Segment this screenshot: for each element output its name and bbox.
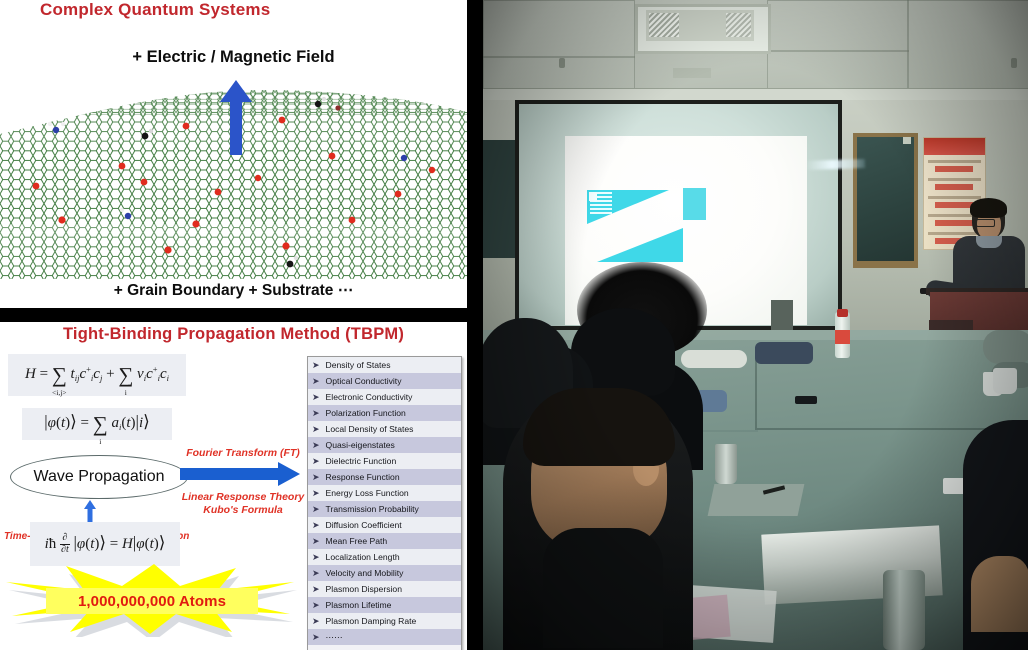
list-item-label: Diffusion Coefficient xyxy=(326,520,402,530)
list-item[interactable]: ➤Electronic Conductivity xyxy=(308,389,461,405)
list-item[interactable]: ➤Transmission Probability xyxy=(308,501,461,517)
arrow-bullet-icon: ➤ xyxy=(312,409,320,418)
paper-cup xyxy=(993,368,1017,394)
arrow-bullet-icon: ➤ xyxy=(312,569,320,578)
audience-hair xyxy=(523,388,675,466)
field-direction-arrow-icon xyxy=(219,80,253,155)
grain-boundary-substrate-label: + Grain Boundary + Substrate ⋯ xyxy=(0,281,467,300)
arrow-bullet-icon: ➤ xyxy=(312,521,320,530)
vent-slats-icon xyxy=(726,13,751,37)
arrow-bullet-icon: ➤ xyxy=(312,617,320,626)
ceiling-tile xyxy=(767,0,909,52)
slide-rectangle xyxy=(683,188,706,220)
poster-section-heading xyxy=(935,202,973,208)
list-item[interactable]: ➤Density of States xyxy=(308,357,461,373)
arrow-bullet-icon: ➤ xyxy=(312,457,320,466)
list-item-label: Transmission Probability xyxy=(326,504,419,514)
arrow-bullet-icon: ➤ xyxy=(312,361,320,370)
list-item[interactable]: ➤Diffusion Coefficient xyxy=(308,517,461,533)
annotation-fourier-transform: Fourier Transform (FT) xyxy=(178,447,308,460)
list-item[interactable]: ➤Response Function xyxy=(308,469,461,485)
list-item-label: Electronic Conductivity xyxy=(326,392,413,402)
list-item-label: Plasmon Lifetime xyxy=(326,600,392,610)
poster-section-heading xyxy=(935,166,973,172)
arrow-bullet-icon: ➤ xyxy=(312,633,320,642)
ceiling-fixture xyxy=(673,68,711,78)
list-item-label: ⋯⋯ xyxy=(326,632,343,643)
list-item[interactable]: ➤Dielectric Function xyxy=(308,453,461,469)
poster-section-heading xyxy=(935,184,973,190)
arrow-bullet-icon: ➤ xyxy=(312,601,320,610)
list-item-label: Plasmon Dispersion xyxy=(326,584,402,594)
poster-text-line xyxy=(928,232,981,235)
poster-text-line xyxy=(928,196,981,199)
list-item-label: Polarization Function xyxy=(326,408,406,418)
list-item[interactable]: ➤Mean Free Path xyxy=(308,533,461,549)
presenter-collar xyxy=(976,236,1002,248)
ceiling-tile xyxy=(483,0,635,58)
list-item[interactable]: ➤Quasi-eigenstates xyxy=(308,437,461,453)
atoms-count-label: 1,000,000,000 Atoms xyxy=(46,588,258,614)
arrow-bullet-icon: ➤ xyxy=(312,441,320,450)
audience-hand xyxy=(971,556,1028,632)
rolled-cloth xyxy=(681,350,747,368)
chalk-mark xyxy=(903,137,911,144)
arrow-bullet-icon: ➤ xyxy=(312,505,320,514)
arrow-bullet-icon: ➤ xyxy=(312,585,320,594)
table-edge xyxy=(483,330,1028,340)
list-item-label: Quasi-eigenstates xyxy=(326,440,395,450)
slide-tbpm-method: Tight-Binding Propagation Method (TBPM) … xyxy=(0,322,467,650)
annotation-kubo: Linear Response Theory Kubo's Formula xyxy=(176,491,310,517)
equation-hamiltonian: H = ∑<i,j> tijc+icj + ∑i vic+ici xyxy=(8,354,186,396)
arrow-bullet-icon: ➤ xyxy=(312,473,320,482)
equation-state-expansion: |φ(t)⟩ = ∑i ai(t)|i⟩ xyxy=(22,408,172,440)
arrow-bullet-icon: ➤ xyxy=(312,537,320,546)
list-item-label: Energy Loss Function xyxy=(326,488,409,498)
blackboard-tray xyxy=(853,262,918,268)
slide-triangle-lower xyxy=(597,228,683,262)
transform-right-arrow-icon xyxy=(180,462,300,486)
list-item[interactable]: ➤Plasmon Damping Rate xyxy=(308,613,461,629)
arrow-bullet-icon: ➤ xyxy=(312,393,320,402)
list-item-label: Velocity and Mobility xyxy=(326,568,404,578)
screenshot-root: Complex Quantum Systems + Electric / Mag… xyxy=(0,0,1028,650)
ceiling-hook xyxy=(559,58,565,68)
poster-text-line xyxy=(928,178,981,181)
list-item[interactable]: ➤⋯⋯ xyxy=(308,629,461,645)
list-item-label: Localization Length xyxy=(326,552,400,562)
bottle-cap xyxy=(837,309,848,317)
poster-header-banner xyxy=(924,138,985,155)
presenter-glasses xyxy=(976,219,995,227)
list-item[interactable]: ➤Localization Length xyxy=(308,549,461,565)
list-item[interactable]: ➤Polarization Function xyxy=(308,405,461,421)
equation-schrodinger: iħ ∂ ∂t |φ(t)⟩ = H|φ(t)⟩ xyxy=(30,522,180,566)
slide-top-title: Complex Quantum Systems xyxy=(0,0,270,20)
list-item[interactable]: ➤Plasmon Lifetime xyxy=(308,597,461,613)
blackboard-left xyxy=(483,140,518,258)
annotation-kubo-line1: Linear Response Theory xyxy=(176,491,310,504)
ceiling-tile xyxy=(767,50,909,92)
arrow-bullet-icon: ➤ xyxy=(312,489,320,498)
slide-complex-quantum-systems: Complex Quantum Systems + Electric / Mag… xyxy=(0,0,467,308)
list-item-label: Local Density of States xyxy=(326,424,414,434)
bottle-label xyxy=(835,330,850,344)
poster-text-line xyxy=(928,160,981,163)
list-item[interactable]: ➤Velocity and Mobility xyxy=(308,565,461,581)
list-item-label: Mean Free Path xyxy=(326,536,388,546)
audience-shoulders xyxy=(543,528,663,648)
electric-magnetic-field-label: + Electric / Magnetic Field xyxy=(0,48,467,67)
list-item-label: Response Function xyxy=(326,472,400,482)
presenter-hair xyxy=(970,198,1007,218)
chair xyxy=(983,330,1028,364)
poster-section-heading xyxy=(935,220,973,226)
lecture-room-photo xyxy=(483,0,1028,650)
list-item-label: Plasmon Damping Rate xyxy=(326,616,417,626)
slide-marker xyxy=(589,192,597,201)
list-item-label: Dielectric Function xyxy=(326,456,397,466)
annotation-kubo-line2: Kubo's Formula xyxy=(176,504,310,517)
water-bottle xyxy=(883,570,925,650)
list-item[interactable]: ➤Local Density of States xyxy=(308,421,461,437)
ceiling-hook xyxy=(1011,58,1017,68)
paper-sheet xyxy=(708,484,805,516)
slide-bottom-title: Tight-Binding Propagation Method (TBPM) xyxy=(0,325,467,344)
ceiling-tile xyxy=(907,0,1028,92)
list-item[interactable]: ➤Optical Conductivity xyxy=(308,373,461,389)
arrow-bullet-icon: ➤ xyxy=(312,553,320,562)
vent-slats-icon xyxy=(649,13,679,37)
observables-list[interactable]: ➤Density of States ➤Optical Conductivity… xyxy=(307,356,462,650)
wave-propagation-node: Wave Propagation xyxy=(10,455,188,499)
blackboard-right xyxy=(853,133,918,265)
list-item-label: Optical Conductivity xyxy=(326,376,402,386)
wave-propagation-label: Wave Propagation xyxy=(33,468,164,486)
list-item[interactable]: ➤Plasmon Dispersion xyxy=(308,581,461,597)
phone-on-table xyxy=(795,396,817,404)
folded-jacket xyxy=(755,342,813,364)
table-seam xyxy=(755,358,757,430)
arrow-bullet-icon: ➤ xyxy=(312,425,320,434)
arrow-bullet-icon: ➤ xyxy=(312,377,320,386)
paper-cup xyxy=(715,444,737,484)
list-item-label: Density of States xyxy=(326,360,391,370)
list-item[interactable]: ➤Energy Loss Function xyxy=(308,485,461,501)
